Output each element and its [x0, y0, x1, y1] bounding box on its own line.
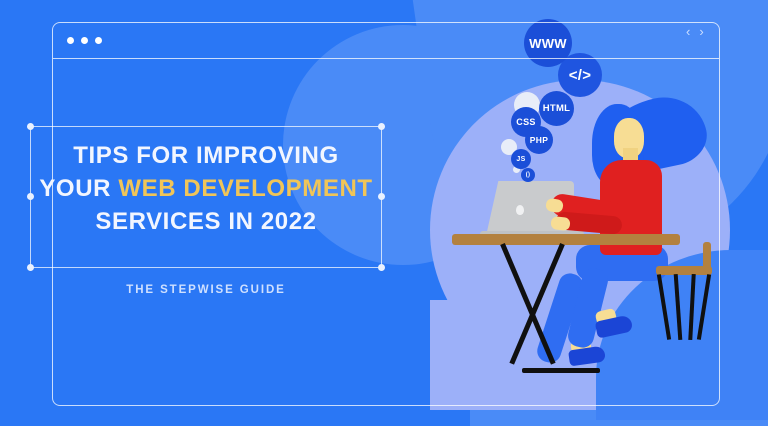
- window-dot-icon[interactable]: [67, 37, 74, 44]
- window-dot-icon[interactable]: [95, 37, 102, 44]
- resize-handle-bottom-right[interactable]: [378, 264, 385, 271]
- browser-titlebar: [53, 23, 719, 59]
- carousel-nav: ‹ ›: [686, 25, 704, 38]
- headline-line-1: TIPS FOR IMPROVING: [30, 140, 382, 173]
- chevron-left-icon[interactable]: ‹: [686, 25, 690, 38]
- resize-handle-top-left[interactable]: [27, 123, 34, 130]
- resize-handle-top-right[interactable]: [378, 123, 385, 130]
- page-title: TIPS FOR IMPROVING YOUR WEB DEVELOPMENT …: [30, 140, 382, 239]
- chevron-right-icon[interactable]: ›: [699, 25, 703, 38]
- banner-canvas: HTML CSS PHP JS () </> WWW ‹ › TIPS FOR …: [0, 0, 768, 426]
- window-dot-icon[interactable]: [81, 37, 88, 44]
- resize-handle-bottom-left[interactable]: [27, 264, 34, 271]
- page-subtitle: THE STEPWISE GUIDE: [30, 284, 382, 296]
- headline-line-2: YOUR WEB DEVELOPMENT: [30, 173, 382, 206]
- window-controls: [67, 37, 102, 44]
- headline-line-2-prefix: YOUR: [39, 175, 118, 202]
- headline-line-3: SERVICES IN 2022: [30, 206, 382, 239]
- headline-line-2-accent: WEB DEVELOPMENT: [118, 175, 372, 202]
